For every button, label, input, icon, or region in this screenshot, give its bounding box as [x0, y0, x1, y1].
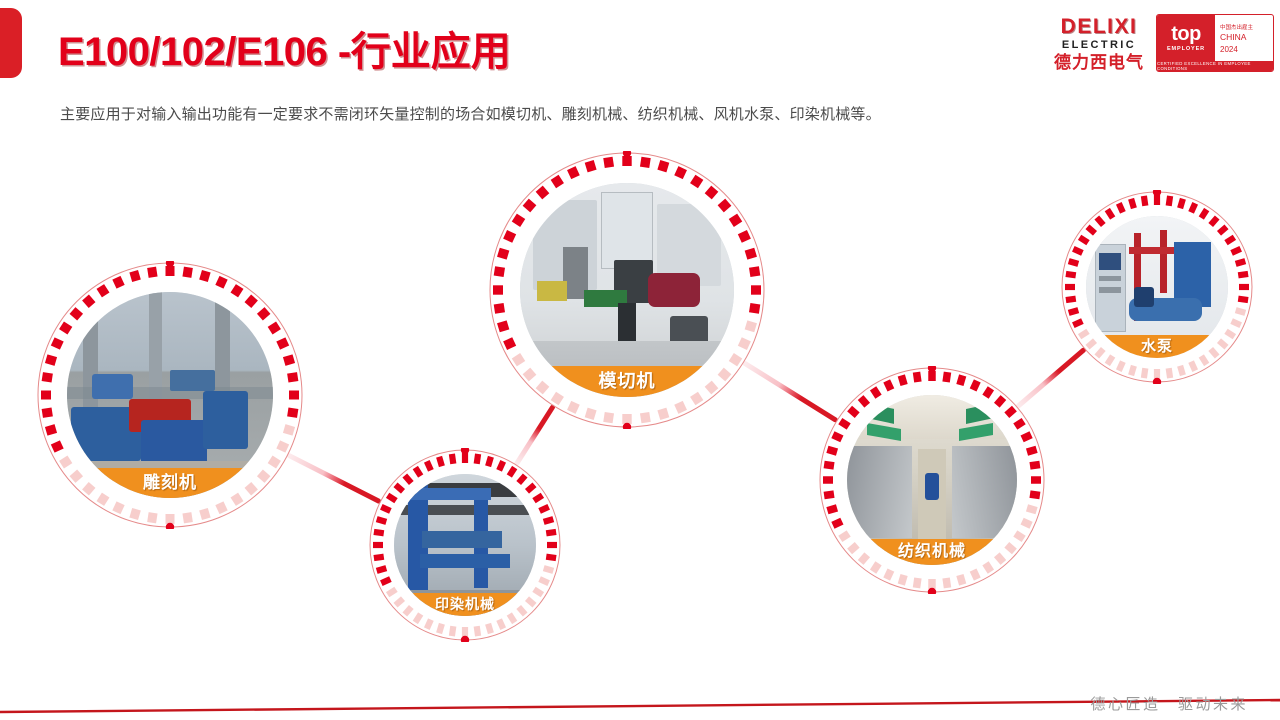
node-label-printing: 印染机械	[394, 593, 536, 616]
application-node-engraving[interactable]: 雕刻机	[36, 261, 304, 529]
footer-slogan: 德心匠造 驱动未来	[1090, 693, 1248, 714]
application-node-diecutting[interactable]: 模切机	[488, 151, 766, 429]
node-photo-printing: 印染机械	[394, 474, 536, 616]
node-photo-waterpump: 水泵	[1086, 216, 1228, 358]
node-label-waterpump: 水泵	[1086, 335, 1228, 358]
node-label-diecutting: 模切机	[520, 366, 734, 397]
application-node-waterpump[interactable]: 水泵	[1060, 190, 1254, 384]
node-photo-diecutting: 模切机	[520, 183, 734, 397]
application-diagram: 雕刻机 模切机 印染机械	[0, 0, 1280, 720]
node-photo-scene-diecutting	[520, 183, 734, 397]
node-label-textile: 纺织机械	[847, 539, 1017, 565]
node-photo-textile: 纺织机械	[847, 395, 1017, 565]
footer-divider	[0, 672, 1280, 720]
application-node-printing[interactable]: 印染机械	[368, 448, 562, 642]
node-photo-engraving: 雕刻机	[67, 292, 273, 498]
slide-root: E100/102/E106 -行业应用 主要应用于对输入输出功能有一定要求不需闭…	[0, 0, 1280, 720]
application-node-textile[interactable]: 纺织机械	[818, 366, 1046, 594]
node-label-engraving: 雕刻机	[67, 468, 273, 498]
